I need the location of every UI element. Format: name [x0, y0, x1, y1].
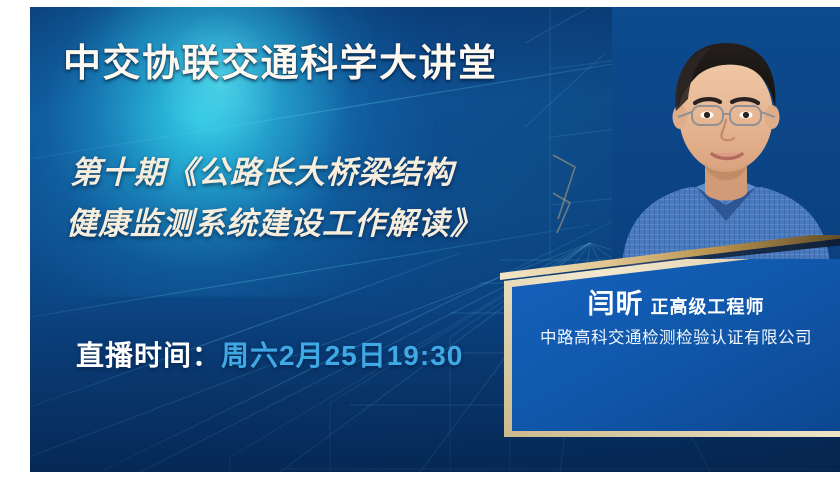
subtitle: 第十期《公路长大桥梁结构 健康监测系统建设工作解读》 [70, 147, 482, 249]
speaker-organization: 中路高科交通检测检验认证有限公司 [500, 324, 840, 348]
speaker-card: 闫昕正高级工程师 中路高科交通检测检验认证有限公司 [500, 259, 840, 437]
poster-canvas: 闫昕正高级工程师 中路高科交通检测检验认证有限公司 中交协联交通科学大讲堂 第十… [30, 7, 840, 472]
live-time-value: 周六2月25日19:30 [221, 340, 463, 371]
speaker-name: 闫昕 [588, 289, 644, 319]
page-title: 中交协联交通科学大讲堂 [63, 32, 498, 87]
poster-root: 闫昕正高级工程师 中路高科交通检测检验认证有限公司 中交协联交通科学大讲堂 第十… [0, 0, 840, 480]
subtitle-line-1: 第十期《公路长大桥梁结构 [70, 147, 482, 198]
speaker-title: 正高级工程师 [651, 297, 765, 317]
person-portrait-icon [612, 7, 840, 265]
speaker-portrait-container [612, 7, 840, 265]
subtitle-line-2: 健康监测系统建设工作解读》 [66, 198, 482, 249]
speaker-identity: 闫昕正高级工程师 [500, 282, 840, 321]
live-time-row: 直播时间：周六2月25日19:30 [76, 334, 463, 374]
live-time-label: 直播时间： [76, 340, 221, 371]
